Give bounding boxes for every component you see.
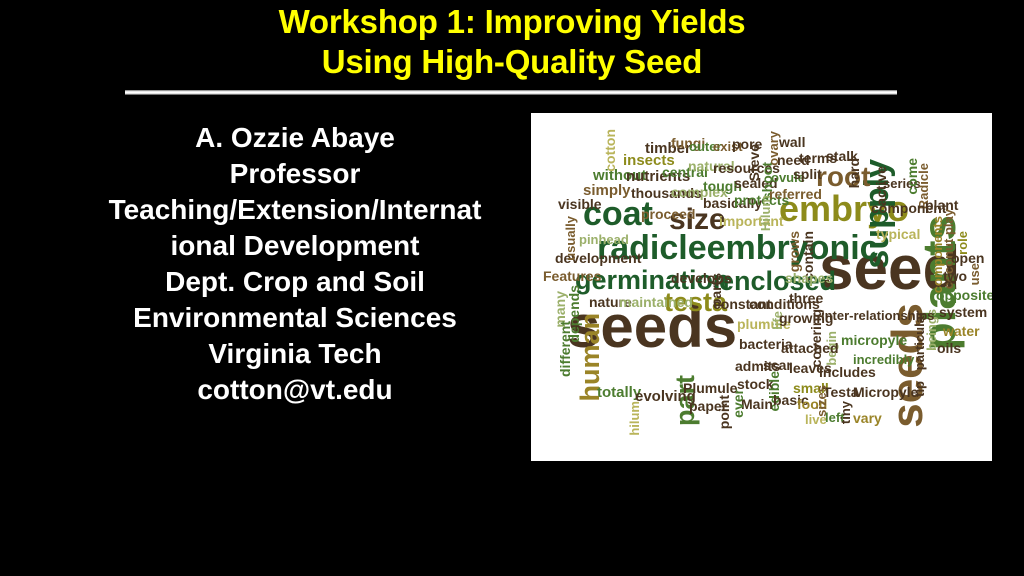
author-line-dept-1: Dept. Crop and Soil [58,264,532,300]
wordcloud-word: paper [689,399,727,413]
wordcloud-word: system [939,305,987,319]
slide-title: Workshop 1: Improving Yields Using High-… [0,2,1024,82]
wordcloud-word: hilum [628,401,641,436]
author-line-title: Professor [58,156,532,192]
wordcloud-word: typical [876,227,920,241]
author-line-role-2: ional Development [58,228,532,264]
title-line-1: Workshop 1: Improving Yields [0,2,1024,42]
wordcloud-word: root [816,163,870,191]
wordcloud-word: Plumule [683,381,737,395]
author-info-block: A. Ozzie Abaye Professor Teaching/Extens… [58,120,532,408]
wordcloud-word: different [558,321,572,377]
wordcloud-canvas: seedsseedradicleembryonicplantsseedsembr… [531,113,992,461]
wordcloud-word: split [793,167,822,181]
author-line-name: A. Ozzie Abaye [58,120,532,156]
wordcloud-word: inter-relationships [821,309,934,322]
wordcloud-word: micropyle [841,333,907,347]
wordcloud-word: hard [847,158,861,188]
wordcloud-word: pinhead [579,233,629,246]
wordcloud-word: live [805,413,827,426]
wordcloud-word: includes [819,365,876,379]
wordcloud-word: grows [787,231,801,272]
slide-root: Workshop 1: Improving Yields Using High-… [0,0,1024,576]
author-line-role-1: Teaching/Extension/Internat [58,192,532,228]
wordcloud-word: proceed [641,207,695,221]
author-email: cotton@vt.edu [58,372,532,408]
wordcloud-word: two [943,269,967,283]
wordcloud-word: cotton [603,129,617,172]
wordcloud-word: Hilum [759,195,772,231]
wordcloud-word: important [719,214,784,228]
wordcloud-word: Micropyle [853,385,918,399]
wordcloud-word: visible [558,197,602,211]
title-line-2: Using High-Quality Seed [0,42,1024,82]
wordcloud-word: opposite [936,288,992,302]
wordcloud-word: Features [543,269,601,283]
wordcloud-word: tiny [839,401,852,424]
wordcloud-word: wall [779,135,805,149]
wordcloud-word: vary [853,411,882,425]
wordcloud-word: maintained [619,295,693,309]
author-line-dept-2: Environmental Sciences [58,300,532,336]
wordcloud-image: seedsseedradicleembryonicplantsseedsembr… [531,113,992,461]
wordcloud-word: usually [564,216,577,261]
wordcloud-word: use [968,263,981,285]
wordcloud-word: shapes [785,271,833,285]
wordcloud-word: attached [781,341,839,355]
wordcloud-word: oils [937,341,961,355]
wordcloud-word: simply [583,183,631,198]
wordcloud-word: scar [763,358,792,372]
wordcloud-word: referred [769,187,822,201]
title-divider-rule [125,90,897,95]
author-line-institution: Virginia Tech [58,336,532,372]
wordcloud-word: water [943,324,980,338]
